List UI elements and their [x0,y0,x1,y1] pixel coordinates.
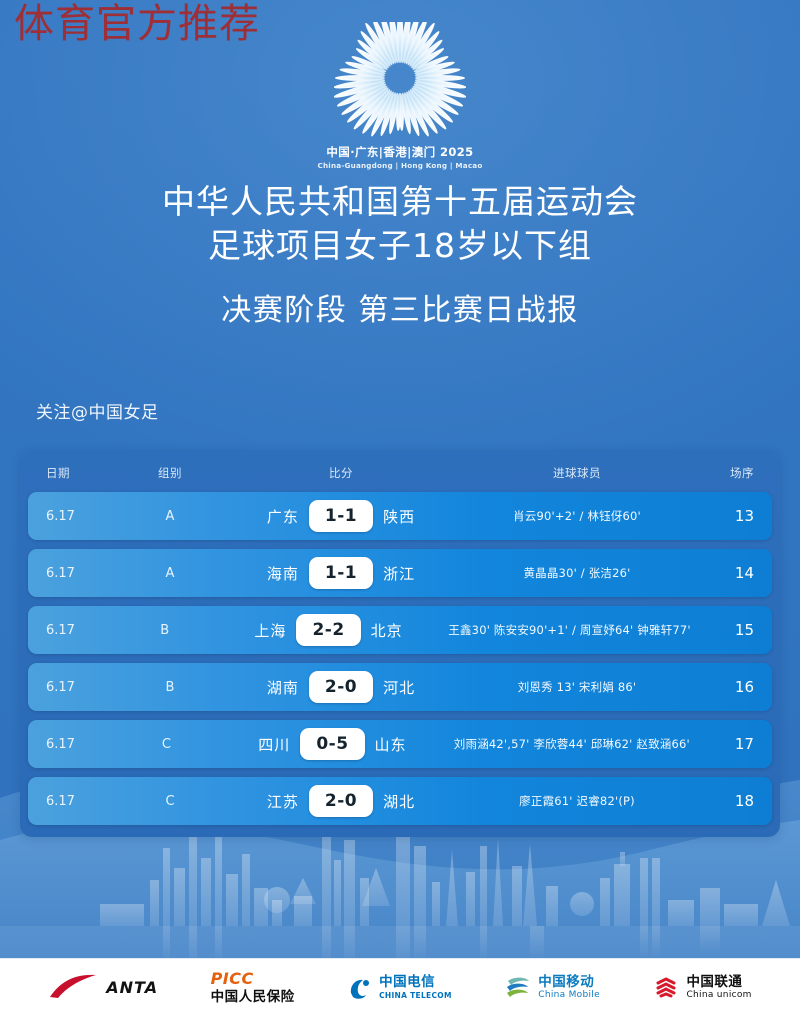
page-subtitle: 决赛阶段 第三比赛日战报 [0,290,800,332]
follow-handle[interactable]: 关注@中国女足 [36,398,159,423]
sponsor-anta: ANTA [48,973,158,1003]
china-unicom-icon [652,975,680,1001]
page-title-line-2: 足球项目女子18岁以下组 [0,224,800,268]
sponsor-china-mobile-en: China Mobile [538,991,600,1000]
home-team: 湖南 [231,677,309,698]
cell-match-no: 15 [691,621,754,639]
sponsor-china-unicom-cn: 中国联通 [686,975,751,989]
cell-score: 广东1-1陕西 [216,500,466,532]
sponsor-picc-cn: 中国人民保险 [211,990,295,1004]
away-team: 山东 [365,734,443,755]
cell-match-no: 17 [690,735,754,753]
cell-match-no: 13 [688,507,754,525]
score-pill: 1-1 [309,500,373,532]
score-pill: 2-0 [309,671,373,703]
away-team: 北京 [361,620,439,641]
sponsor-bar: ANTA PICC 中国人民保险 中国电信 CHINA TELECOM 中国移动… [0,958,800,1016]
sponsor-china-unicom: 中国联通 China unicom [652,975,751,1001]
sponsor-china-telecom: 中国电信 CHINA TELECOM [347,975,452,1001]
cell-scorers: 刘恩秀 13' 宋利娟 86' [466,679,688,695]
cell-score: 上海2-2北京 [209,614,448,646]
page-title-line-1: 中华人民共和国第十五届运动会 [0,180,800,224]
cell-match-no: 18 [688,792,754,810]
score-pill: 2-2 [296,614,360,646]
sponsor-china-unicom-en: China unicom [686,991,751,1000]
away-team: 陕西 [373,506,451,527]
table-row: 6.17A广东1-1陕西肖云90'+2' / 林钰伢60'13 [28,492,772,540]
sponsor-picc-en: PICC [211,971,295,988]
cell-scorers: 廖正霞61' 迟睿82'(P) [466,793,688,809]
column-header-match-no: 场序 [688,465,754,481]
cell-score: 海南1-1浙江 [216,557,466,589]
home-team: 广东 [231,506,309,527]
cell-group: B [121,623,209,638]
sponsor-anta-label: ANTA [106,978,158,997]
cell-match-no: 14 [688,564,754,582]
column-header-score: 比分 [216,465,466,481]
cell-group: A [124,509,216,524]
score-pill: 1-1 [309,557,373,589]
away-team: 河北 [373,677,451,698]
table-body: 6.17A广东1-1陕西肖云90'+2' / 林钰伢60'136.17A海南1-… [28,492,772,825]
cell-date: 6.17 [46,509,124,524]
cell-match-no: 16 [688,678,754,696]
score-pill: 0-5 [300,728,364,760]
cell-score: 湖南2-0河北 [216,671,466,703]
sponsor-china-mobile-cn: 中国移动 [538,975,600,989]
china-mobile-icon [504,975,532,1001]
cell-date: 6.17 [46,566,124,581]
table-row: 6.17A海南1-1浙江黄晶晶30' / 张洁26'14 [28,549,772,597]
home-team: 海南 [231,563,309,584]
cell-date: 6.17 [46,680,124,695]
emblem-english-text: China-Guangdong | Hong Kong | Macao [318,161,483,170]
column-header-date: 日期 [46,465,124,481]
home-team: 四川 [222,734,300,755]
cell-date: 6.17 [46,794,124,809]
cell-scorers: 黄晶晶30' / 张洁26' [466,565,688,581]
column-header-scorers: 进球球员 [466,465,688,481]
cell-group: B [124,680,216,695]
home-team: 上海 [218,620,296,641]
away-team: 湖北 [373,791,451,812]
anta-swoosh-icon [48,973,100,1003]
cell-score: 江苏2-0湖北 [216,785,466,817]
table-row: 6.17B上海2-2北京王鑫30' 陈安安90'+1' / 周宣妤64' 钟雅轩… [28,606,772,654]
sponsor-china-mobile: 中国移动 China Mobile [504,975,600,1001]
page-title-block: 中华人民共和国第十五届运动会 足球项目女子18岁以下组 决赛阶段 第三比赛日战报 [0,180,800,332]
cell-date: 6.17 [46,623,121,638]
sponsor-picc: PICC 中国人民保险 [211,971,295,1005]
cell-group: C [122,737,211,752]
watermark-text: 体育官方推荐 [14,4,260,44]
table-row: 6.17B湖南2-0河北刘恩秀 13' 宋利娟 86'16 [28,663,772,711]
home-team: 江苏 [231,791,309,812]
sponsor-china-telecom-cn: 中国电信 [379,975,452,989]
china-telecom-icon [347,975,373,1001]
cell-group: A [124,566,216,581]
score-pill: 2-0 [309,785,373,817]
table-row: 6.17C四川0-5山东刘雨涵42',57' 李欣蓉44' 邱琳62' 赵致涵6… [28,720,772,768]
emblem-burst-icon [334,22,466,140]
away-team: 浙江 [373,563,451,584]
cell-scorers: 王鑫30' 陈安安90'+1' / 周宣妤64' 钟雅轩77' [448,622,691,638]
emblem-chinese-text: 中国·广东|香港|澳门 2025 [326,144,473,160]
cell-score: 四川0-5山东 [211,728,454,760]
sponsor-china-telecom-en: CHINA TELECOM [379,992,452,1000]
cell-scorers: 刘雨涵42',57' 李欣蓉44' 邱琳62' 赵致涵66' [454,736,690,752]
cell-group: C [124,794,216,809]
cell-scorers: 肖云90'+2' / 林钰伢60' [466,508,688,524]
column-header-group: 组别 [124,465,216,481]
table-row: 6.17C江苏2-0湖北廖正霞61' 迟睿82'(P)18 [28,777,772,825]
table-header-row: 日期 组别 比分 进球球员 场序 [28,460,772,486]
cell-date: 6.17 [46,737,122,752]
results-table: 日期 组别 比分 进球球员 场序 6.17A广东1-1陕西肖云90'+2' / … [20,450,780,837]
